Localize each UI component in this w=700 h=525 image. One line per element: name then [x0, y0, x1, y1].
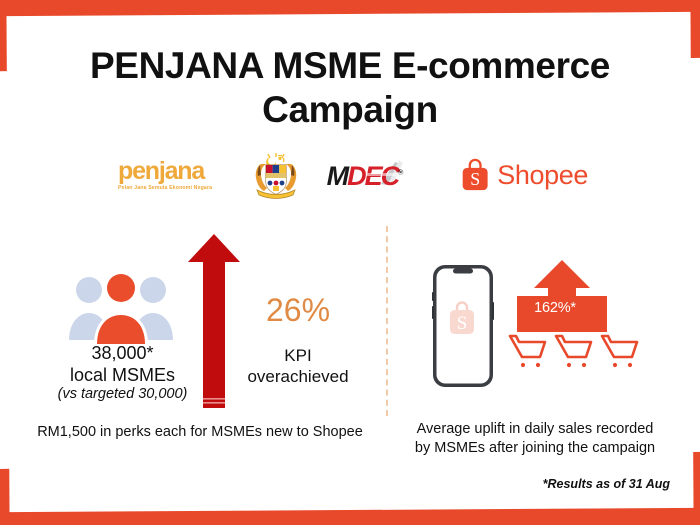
- phone-shopee-letter: S: [457, 313, 468, 334]
- footnote: *Results as of 31 Aug: [420, 477, 670, 491]
- msme-count-note: (vs targeted 30,000): [40, 386, 205, 402]
- shopping-cart-icon: [602, 336, 637, 367]
- uplift-percentage: 162%*: [512, 300, 598, 316]
- shopping-cart-icon: [556, 336, 591, 367]
- perks-caption: RM1,500 in perks each for MSMEs new to S…: [30, 424, 370, 440]
- mdec-registered-mark: ®: [398, 170, 401, 177]
- panel-divider: [386, 226, 388, 416]
- shopee-bag-letter: S: [470, 169, 480, 189]
- penjana-tagline: Pelan Jana Semula Ekonomi Negara: [118, 185, 212, 191]
- mdec-logo: MDEC®: [327, 158, 439, 192]
- shopping-cart-icon: [510, 336, 545, 367]
- partner-logos: penjana Pelan Jana Semula Ekonomi Negara: [118, 146, 588, 204]
- smartphone-with-shopee-bag-icon: S: [432, 264, 494, 388]
- msme-count-stat: 38,000* local MSMEs: [40, 342, 205, 386]
- infographic-poster: PENJANA MSME E-commerce Campaign penjana…: [0, 0, 700, 525]
- page-title: PENJANA MSME E-commerce Campaign: [40, 44, 660, 132]
- msme-count-label: local MSMEs: [40, 364, 205, 386]
- shopping-carts-icon: [508, 332, 640, 376]
- msme-count-value: 38,000*: [40, 342, 205, 364]
- three-people-icon: [63, 268, 179, 348]
- shopee-wordmark: Shopee: [497, 160, 588, 191]
- uplift-caption-line2: by MSMEs after joining the campaign: [398, 439, 672, 458]
- kpi-label: KPI overachieved: [228, 345, 368, 387]
- uplift-caption: Average uplift in daily sales recorded b…: [398, 420, 672, 458]
- coat-of-arms-icon: [247, 150, 305, 200]
- mdec-letters-dec: DEC: [347, 161, 398, 191]
- penjana-logo: penjana Pelan Jana Semula Ekonomi Negara: [118, 159, 226, 191]
- kpi-label-line2: overachieved: [228, 366, 368, 387]
- shopee-logo: S Shopee: [460, 155, 588, 195]
- kpi-percentage: 26%: [228, 292, 368, 329]
- shopee-bag-icon: S: [460, 155, 490, 195]
- jata-negara-logo: [247, 150, 305, 200]
- kpi-label-line1: KPI: [228, 345, 368, 366]
- penjana-wordmark: penjana: [118, 159, 204, 183]
- uplift-caption-line1: Average uplift in daily sales recorded: [398, 420, 672, 439]
- poster-content: PENJANA MSME E-commerce Campaign penjana…: [0, 0, 700, 525]
- mdec-letter-m: M: [327, 161, 348, 191]
- uplift-arrow-badge-icon: [512, 258, 612, 338]
